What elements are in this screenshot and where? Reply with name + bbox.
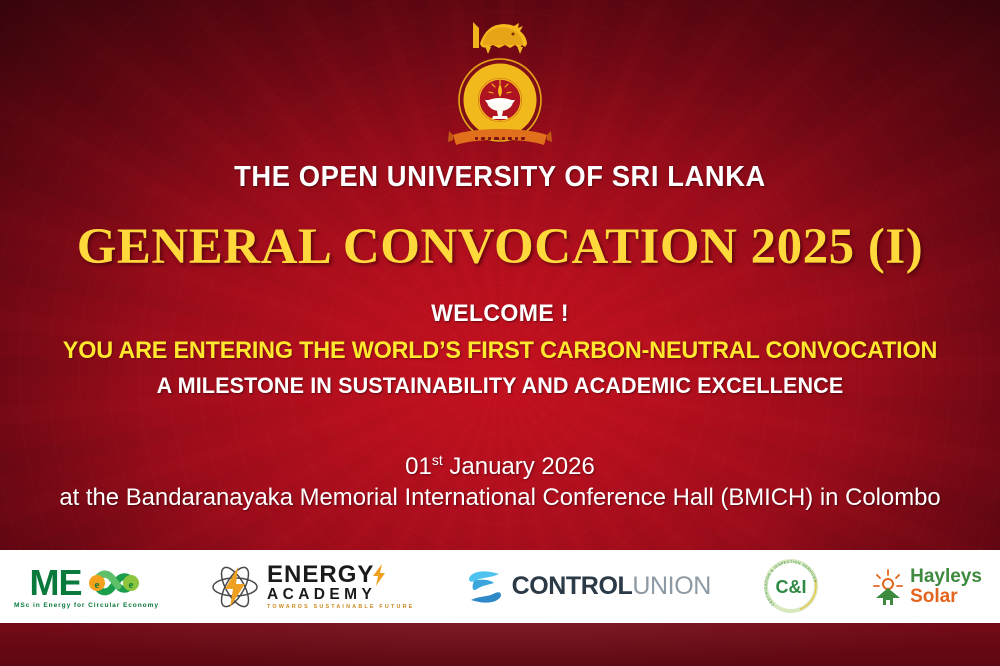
event-date-rest: January 2026 [443, 453, 595, 480]
atom-lightning-icon [209, 561, 261, 613]
svg-text:e: e [95, 579, 100, 591]
control-union-light: UNION [632, 572, 711, 600]
svg-text:e: e [129, 579, 134, 591]
mece-tagline: MSc in Energy for Circular Economy [14, 602, 159, 609]
lightning-accent-icon [371, 564, 387, 586]
infinity-recycle-icon: e e [81, 566, 143, 600]
carbon-neutral-tagline: YOU ARE ENTERING THE WORLD’S FIRST CARBO… [23, 337, 978, 365]
crest-svg [439, 14, 561, 156]
energy-academy-line1: ENERGY [267, 563, 374, 587]
sponsor-logo-mece: ME e e MSc in Energy for Circular Econom… [14, 565, 159, 609]
blue-ribbon-s-icon [465, 566, 505, 608]
university-name: THE OPEN UNIVERSITY OF SRI LANKA [20, 161, 980, 194]
event-venue: at the Bandaranayaka Memorial Internatio… [3, 484, 998, 512]
bottom-strip [0, 623, 1000, 666]
milestone-subtagline: A MILESTONE IN SUSTAINABILITY AND ACADEM… [20, 373, 980, 399]
hayleys-line2: Solar [910, 587, 982, 606]
sponsor-logo-hayleys-solar: Hayleys Solar [871, 567, 982, 606]
lion-with-sword-icon [473, 22, 527, 54]
energy-academy-line2: ACADEMY [267, 587, 414, 603]
svg-text:C&I: C&I [776, 577, 807, 597]
university-crest [439, 14, 561, 156]
mece-wordmark: ME [29, 565, 81, 601]
sponsor-logo-ci-certification: C&I CERTIFICATION & INSPECTION SERVICES [761, 558, 821, 616]
sponsor-logo-control-union: CONTROLUNION [465, 566, 711, 608]
event-date-ordinal: st [432, 452, 443, 468]
sun-house-icon [871, 568, 905, 606]
energy-academy-tagline: TOWARDS SUSTAINABLE FUTURE [267, 605, 414, 610]
page-title: GENERAL CONVOCATION 2025 (I) [0, 218, 1000, 276]
welcome-text: WELCOME ! [20, 300, 980, 328]
event-date: 01st January 2026 [0, 452, 1000, 481]
ci-circular-badge-icon: C&I CERTIFICATION & INSPECTION SERVICES [761, 558, 821, 616]
event-date-day: 01 [405, 453, 432, 480]
hayleys-line1: Hayleys [910, 567, 982, 586]
convocation-welcome-slide: THE OPEN UNIVERSITY OF SRI LANKA GENERAL… [0, 0, 1000, 666]
control-union-bold: CONTROL [512, 572, 633, 600]
sponsor-logo-energy-academy: ENERGY ACADEMY TOWARDS SUSTAINABLE FUTUR… [209, 561, 414, 613]
sponsor-logo-bar: ME e e MSc in Energy for Circular Econom… [0, 550, 1000, 623]
